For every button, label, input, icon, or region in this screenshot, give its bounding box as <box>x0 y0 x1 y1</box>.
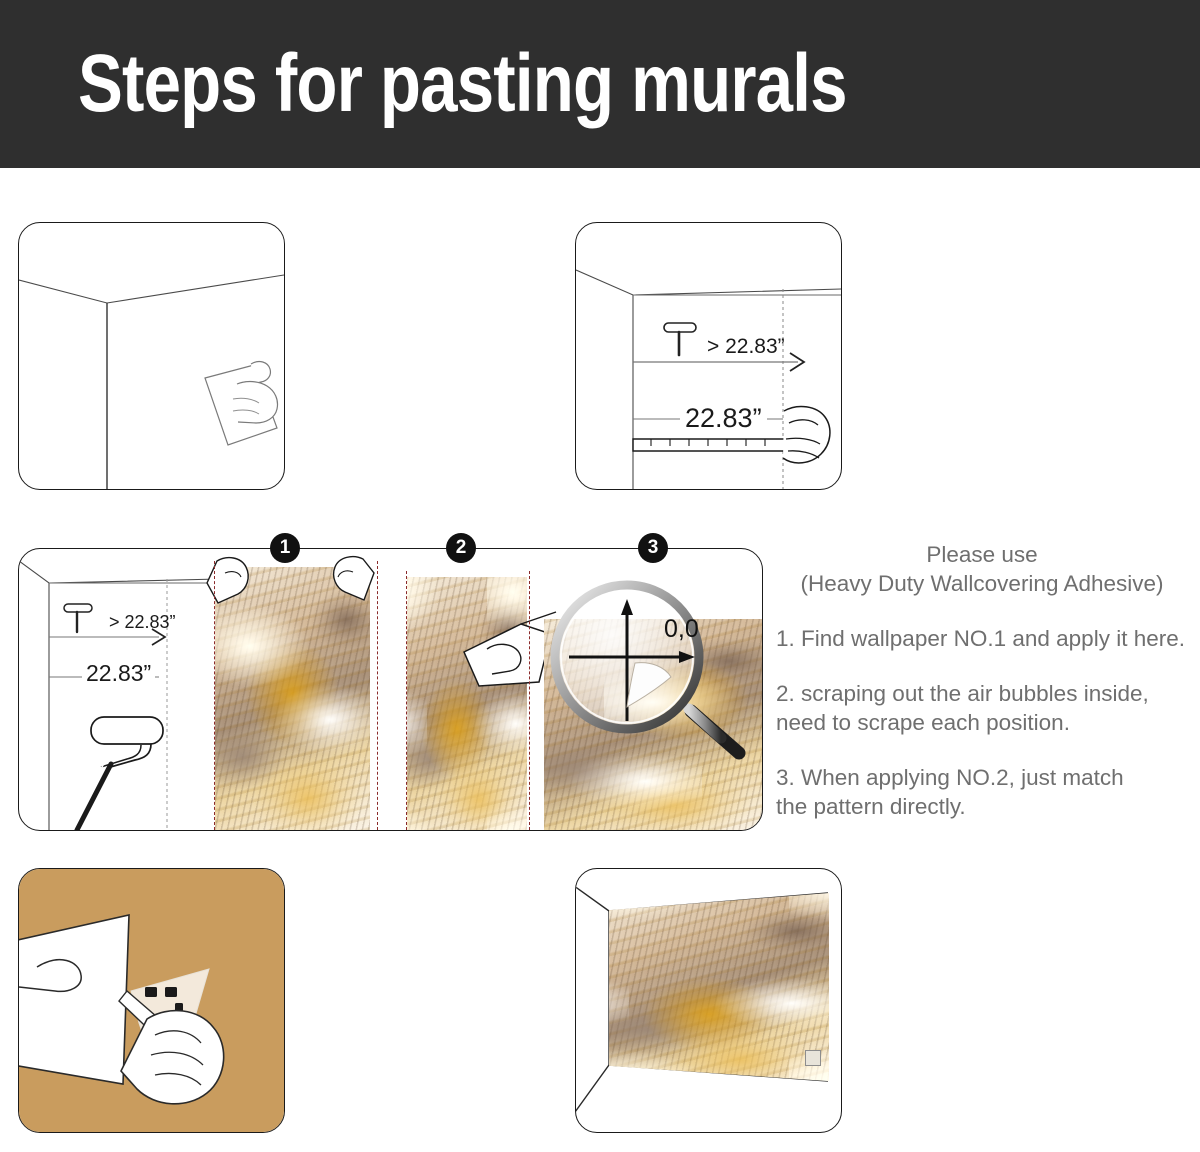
instructions-block: Please use (Heavy Duty Wallcovering Adhe… <box>776 540 1188 821</box>
header-bar: Steps for pasting murals <box>0 0 1200 168</box>
guide-line-4 <box>529 571 530 830</box>
hands-holding-strip-icon <box>201 553 381 623</box>
adhesive-heading-line2: (Heavy Duty Wallcovering Adhesive) <box>776 569 1188 598</box>
magnifier-origin-label: 0,0 <box>664 615 699 644</box>
glue-brush-icon <box>664 323 696 355</box>
panel-repeat-steps: For the later panels, simply repeat the … <box>575 868 842 1133</box>
wall-roller-diagram <box>19 549 219 830</box>
step-bubble-3: 3 <box>638 533 668 563</box>
paint-roller-icon <box>71 717 163 830</box>
instruction-item-2: 2. scraping out the air bubbles inside, … <box>776 679 1188 737</box>
guide-line-3 <box>406 571 407 830</box>
panel-trim-edges: Draw an X on the fresco, then use a sque… <box>18 868 285 1133</box>
panel3-measure-label: 22.83” <box>82 660 155 687</box>
guide-line-2 <box>377 561 378 830</box>
ruler-icon <box>633 439 786 451</box>
hand-icon <box>783 406 830 462</box>
panel-measure-and-glue: > 22.83” 22.83” Applied glue length grea… <box>575 222 842 490</box>
panel-apply-panels: > 22.83” 22.83” <box>18 548 763 831</box>
measure-length-label: 22.83” <box>680 403 767 434</box>
trim-edges-diagram <box>19 869 284 1132</box>
page-title: Steps for pasting murals <box>78 34 847 134</box>
glue-length-label: > 22.83” <box>707 335 785 359</box>
wall-outlet-icon <box>805 1050 821 1066</box>
mural-wall <box>609 893 829 1083</box>
step-bubble-2: 2 <box>446 533 476 563</box>
instruction-graphic: Steps for pasting murals Removal of smal… <box>0 0 1200 1152</box>
magnifier-icon <box>539 571 759 771</box>
panel-prepare-wall: Removal of small protruding particles on… <box>18 222 285 490</box>
adhesive-heading-line1: Please use <box>776 540 1188 569</box>
hand-with-sandpaper-icon <box>205 362 278 445</box>
instruction-item-1: 1. Find wallpaper NO.1 and apply it here… <box>776 624 1188 653</box>
glue-brush-icon <box>64 604 92 632</box>
panel3-glue-length-label: > 22.83” <box>109 612 176 633</box>
wall-corner-diagram <box>19 223 284 489</box>
guide-line-1 <box>214 561 215 830</box>
instruction-item-3: 3. When applying NO.2, just match the pa… <box>776 763 1188 821</box>
step-bubble-1: 1 <box>270 533 300 563</box>
